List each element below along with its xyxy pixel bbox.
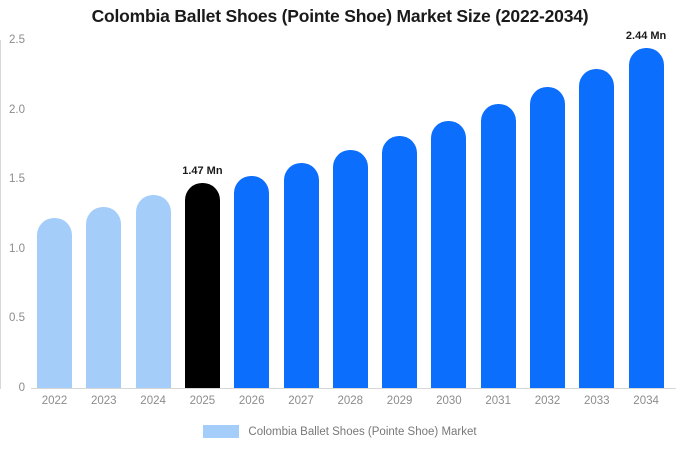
bars-layer: 20222023202420251.47 Mn20262027202820292…	[0, 0, 680, 450]
bar-2032[interactable]	[530, 87, 565, 388]
bar-2027[interactable]	[284, 163, 319, 389]
x-axis-tick-label: 2034	[629, 395, 664, 407]
bar-2024[interactable]	[136, 195, 171, 388]
x-axis-tick-label: 2029	[382, 395, 417, 407]
bar-2034[interactable]	[629, 48, 664, 388]
legend-label: Colombia Ballet Shoes (Pointe Shoe) Mark…	[248, 426, 476, 438]
x-axis-tick-label: 2023	[86, 395, 121, 407]
bar-2028[interactable]	[333, 150, 368, 388]
x-axis-tick-label: 2025	[185, 395, 220, 407]
x-axis-tick-label: 2024	[136, 395, 171, 407]
x-axis-tick-label: 2031	[481, 395, 516, 407]
bar-2031[interactable]	[481, 104, 516, 388]
x-axis-tick-label: 2027	[284, 395, 319, 407]
x-axis-tick-label: 2033	[579, 395, 614, 407]
x-axis-tick-label: 2032	[530, 395, 565, 407]
x-axis-tick-label: 2030	[431, 395, 466, 407]
chart-legend: Colombia Ballet Shoes (Pointe Shoe) Mark…	[0, 425, 680, 438]
x-axis-tick-label: 2022	[37, 395, 72, 407]
bar-2025[interactable]	[185, 183, 220, 388]
bar-value-label-2025: 1.47 Mn	[173, 165, 232, 177]
chart-container: Colombia Ballet Shoes (Pointe Shoe) Mark…	[0, 0, 680, 450]
x-axis-tick-label: 2028	[333, 395, 368, 407]
bar-2029[interactable]	[382, 136, 417, 388]
bar-2026[interactable]	[234, 176, 269, 388]
bar-2030[interactable]	[431, 121, 466, 388]
x-axis-tick-label: 2026	[234, 395, 269, 407]
bar-2022[interactable]	[37, 218, 72, 388]
bar-2023[interactable]	[86, 207, 121, 388]
bar-2033[interactable]	[579, 69, 614, 388]
legend-swatch-icon	[203, 425, 239, 438]
bar-value-label-2034: 2.44 Mn	[617, 30, 676, 42]
